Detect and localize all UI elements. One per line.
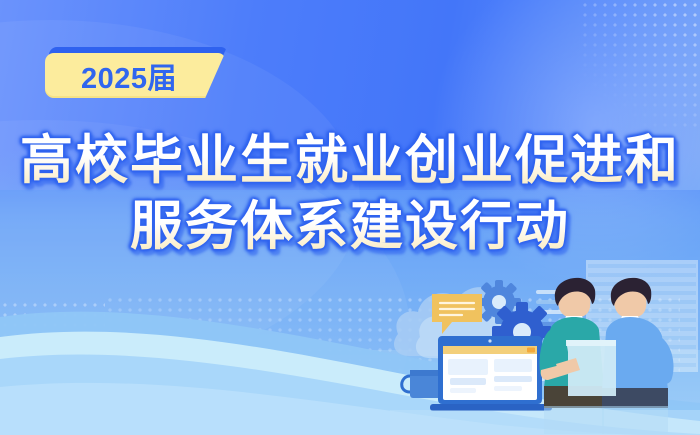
year-badge: 2025届	[45, 47, 230, 99]
laptop-icon	[430, 336, 552, 411]
coffee-mug-icon	[402, 370, 442, 398]
page-title: 高校毕业生就业创业促进和 服务体系建设行动	[0, 128, 700, 260]
table-surface	[390, 410, 700, 435]
promo-banner: 2025届 高校毕业生就业创业促进和 服务体系建设行动	[0, 0, 700, 435]
illustration	[390, 260, 700, 435]
title-line-1: 高校毕业生就业创业促进和	[0, 128, 700, 194]
title-line-2: 服务体系建设行动	[0, 194, 700, 260]
year-badge-label: 2025届	[45, 53, 213, 98]
dot-pattern-top-right	[580, 0, 700, 130]
